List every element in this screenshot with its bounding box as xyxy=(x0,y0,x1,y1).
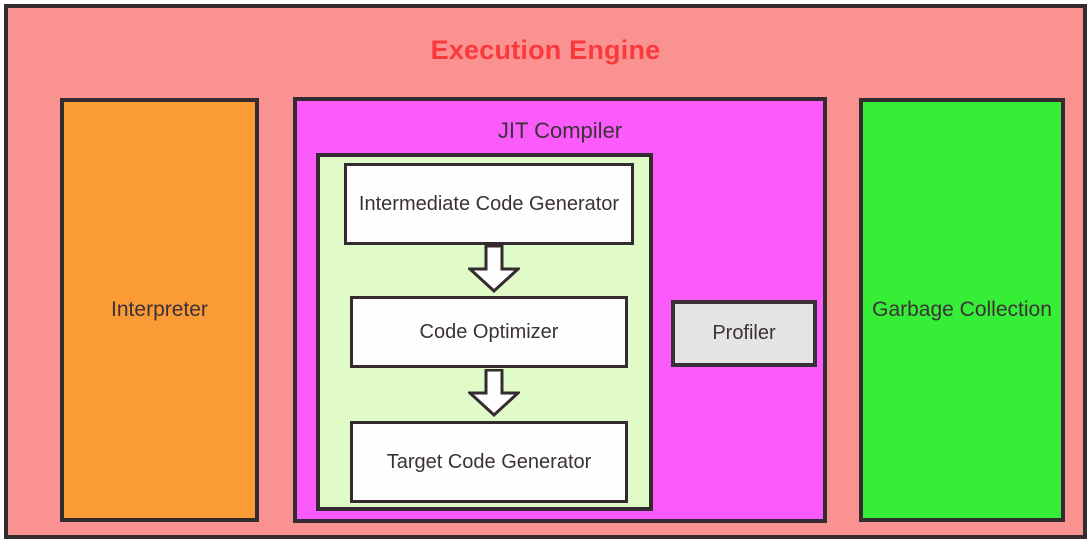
execution-engine-container: Execution Engine Interpreter JIT Compile… xyxy=(4,4,1087,539)
diagram-canvas: Execution Engine Interpreter JIT Compile… xyxy=(0,0,1091,543)
jit-pipeline-container: Intermediate Code Generator Code Optimiz… xyxy=(316,153,653,511)
target-code-generator-box: Target Code Generator xyxy=(350,421,628,503)
code-optimizer-box: Code Optimizer xyxy=(350,296,628,368)
profiler-label: Profiler xyxy=(712,322,775,345)
intermediate-code-generator-label: Intermediate Code Generator xyxy=(359,191,619,217)
interpreter-label: Interpreter xyxy=(111,298,208,322)
jit-compiler-box: JIT Compiler Intermediate Code Generator… xyxy=(293,97,827,523)
garbage-collection-box: Garbage Collection xyxy=(859,98,1065,522)
target-code-generator-label: Target Code Generator xyxy=(387,449,592,475)
garbage-collection-label: Garbage Collection xyxy=(872,296,1052,324)
profiler-box: Profiler xyxy=(671,300,817,367)
intermediate-code-generator-box: Intermediate Code Generator xyxy=(344,163,634,245)
execution-engine-title: Execution Engine xyxy=(8,35,1083,66)
jit-compiler-label: JIT Compiler xyxy=(297,118,823,144)
down-arrow-icon-2 xyxy=(468,369,520,417)
code-optimizer-label: Code Optimizer xyxy=(420,319,559,345)
down-arrow-icon-1 xyxy=(468,245,520,293)
interpreter-box: Interpreter xyxy=(60,98,259,522)
